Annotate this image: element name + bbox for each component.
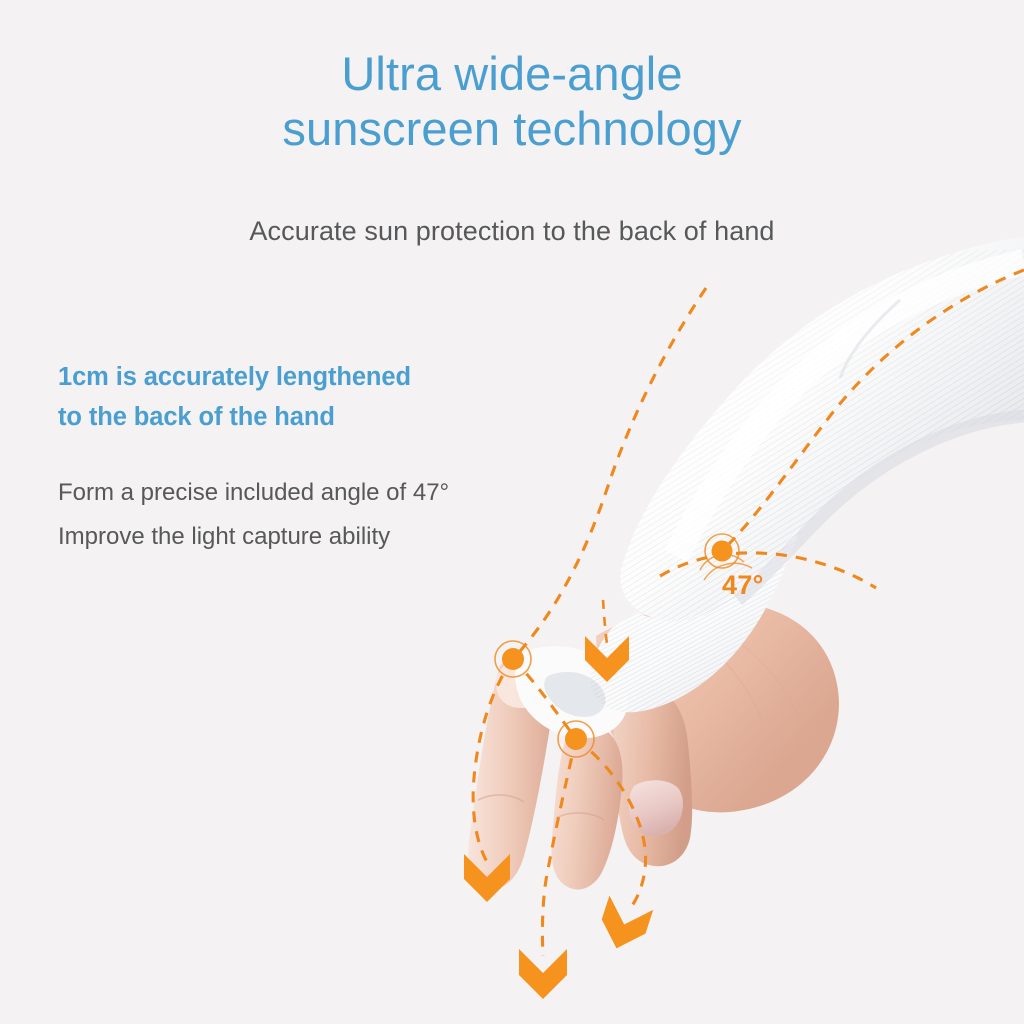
headline-line-2: sunscreen technology <box>0 101 1024 156</box>
feature-title-line-2: to the back of the hand <box>58 398 598 438</box>
feature-title: 1cm is accurately lengthened to the back… <box>58 358 598 437</box>
arrow-right-finger <box>595 896 654 956</box>
page-title: Ultra wide-angle sunscreen technology <box>0 46 1024 157</box>
index-finger <box>613 688 692 866</box>
arrow-center-finger <box>519 949 567 999</box>
subheadline: Accurate sun protection to the back of h… <box>0 216 1024 247</box>
headline-line-1: Ultra wide-angle <box>341 47 682 100</box>
feature-body: Form a precise included angle of 47° Imp… <box>58 471 598 560</box>
infographic-poster: Ultra wide-angle sunscreen technology Ac… <box>0 0 1024 1024</box>
angle-label: 47° <box>722 570 764 601</box>
feature-title-line-1: 1cm is accurately lengthened <box>58 358 598 398</box>
feature-body-line-1: Form a precise included angle of 47° <box>58 471 598 515</box>
feature-text-block: 1cm is accurately lengthened to the back… <box>58 358 598 560</box>
feature-body-line-2: Improve the light capture ability <box>58 515 598 559</box>
